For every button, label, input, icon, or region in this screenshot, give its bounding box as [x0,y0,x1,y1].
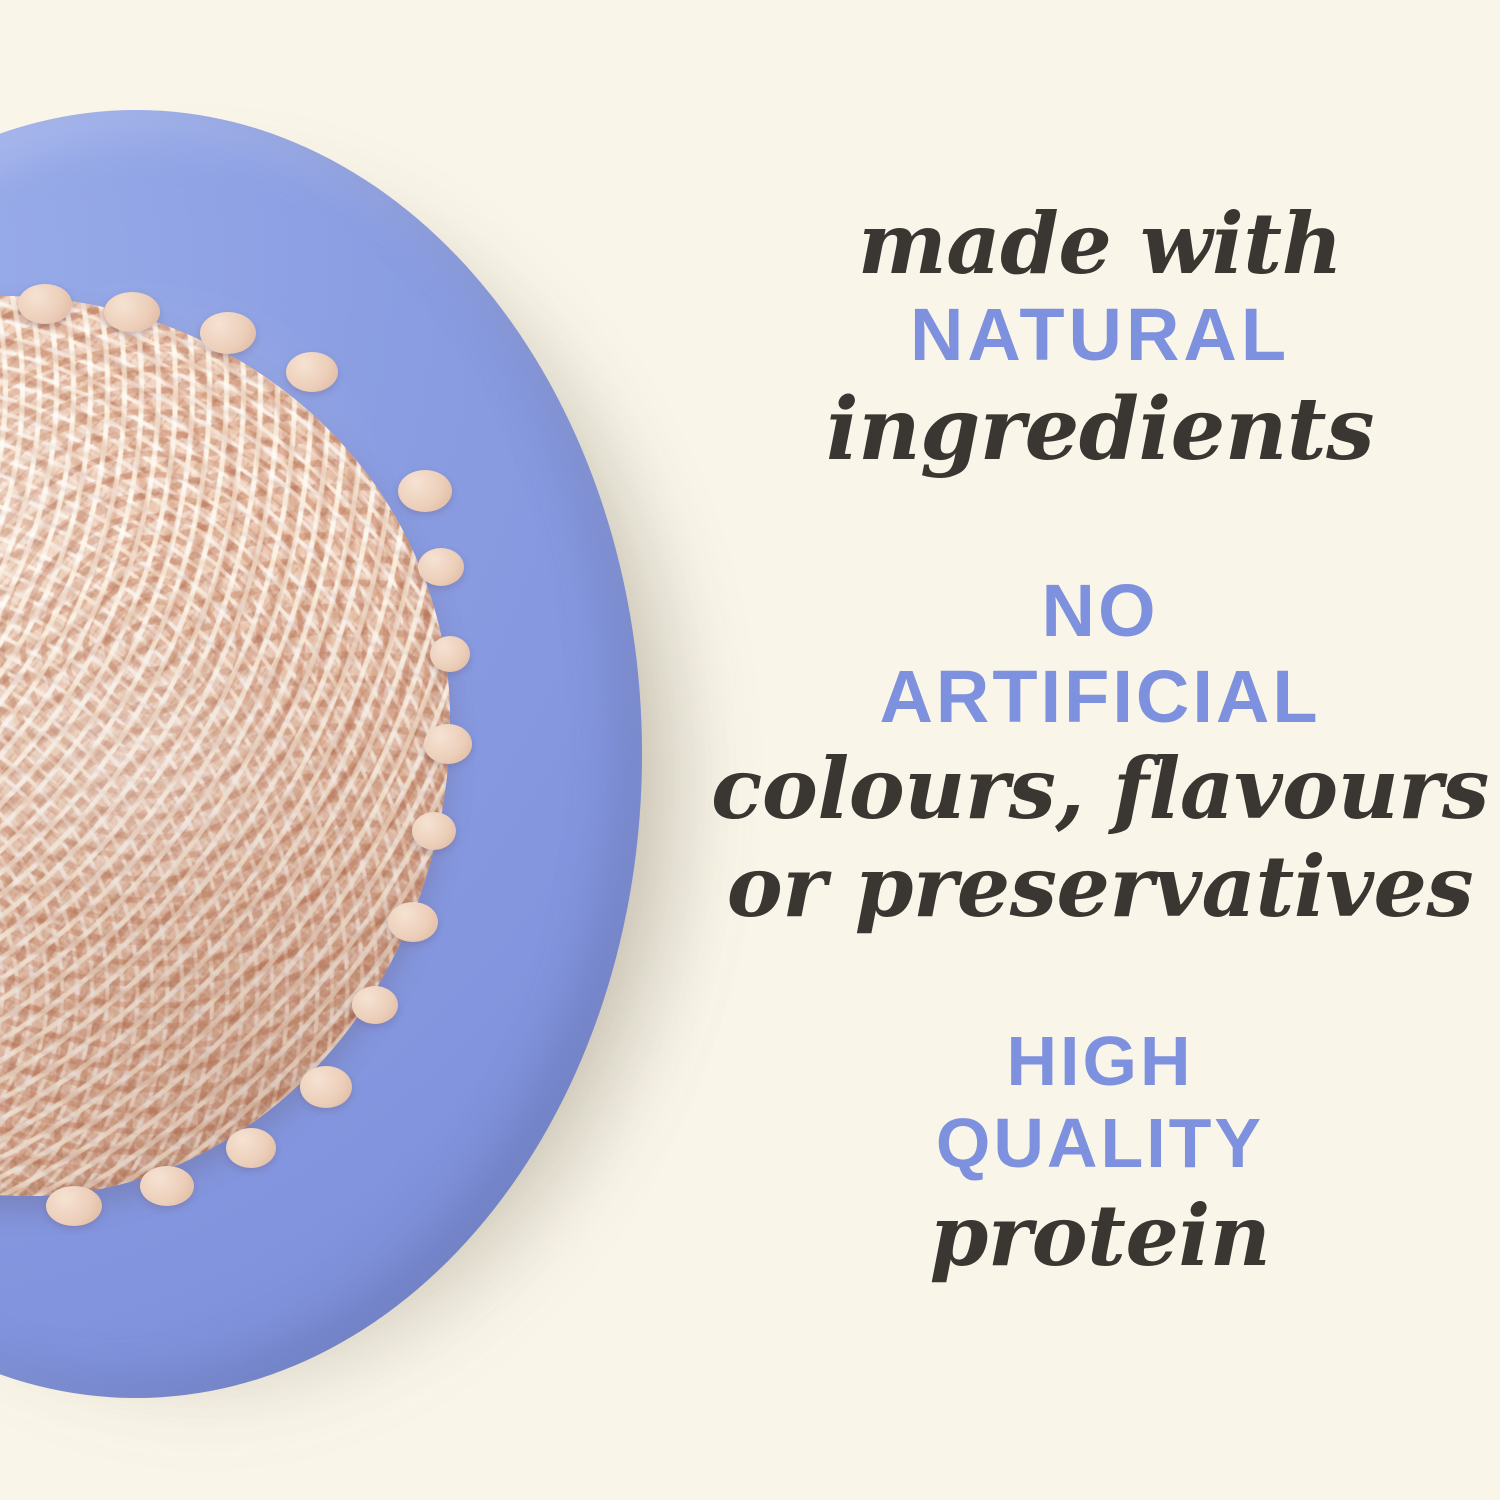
claim-line-emphasis: QUALITY [700,1102,1500,1184]
food-crumb [18,284,72,324]
claim-line-emphasis: NO [700,568,1500,654]
food-crumb [46,1186,102,1226]
claim-line: or preservatives [700,838,1500,936]
food-crumb [412,812,456,850]
claim-line: ingredients [700,378,1500,482]
claim-line-emphasis: NATURAL [700,292,1500,378]
product-photo [0,0,780,1500]
claim-line: made with [700,196,1500,292]
food-crumb [140,1166,194,1206]
food-crumb [200,312,256,354]
food-crumb [418,548,464,586]
food-gloss-highlight [0,296,450,1196]
product-feature-graphic: made with NATURAL ingredients NO ARTIFIC… [0,0,1500,1500]
food-crumb [104,292,160,332]
food-crumb [424,724,472,764]
food-crumb [430,636,470,672]
wet-food-mound [0,296,450,1196]
claim-line-emphasis: ARTIFICIAL [700,654,1500,740]
food-crumb [398,470,452,512]
food-crumb [352,986,398,1024]
claim-natural-ingredients: made with NATURAL ingredients [700,196,1500,482]
food-crumb [226,1128,276,1168]
food-crumb [300,1066,352,1108]
claim-line-emphasis: HIGH [700,1020,1500,1102]
food-crumb [388,902,438,942]
claim-line: colours, flavours [700,740,1500,838]
claim-high-quality-protein: HIGH QUALITY protein [700,1020,1500,1288]
claim-line: protein [700,1184,1500,1288]
claim-no-artificial: NO ARTIFICIAL colours, flavours or prese… [700,568,1500,936]
food-crumb [286,352,338,392]
claims-column: made with NATURAL ingredients NO ARTIFIC… [700,0,1500,1500]
